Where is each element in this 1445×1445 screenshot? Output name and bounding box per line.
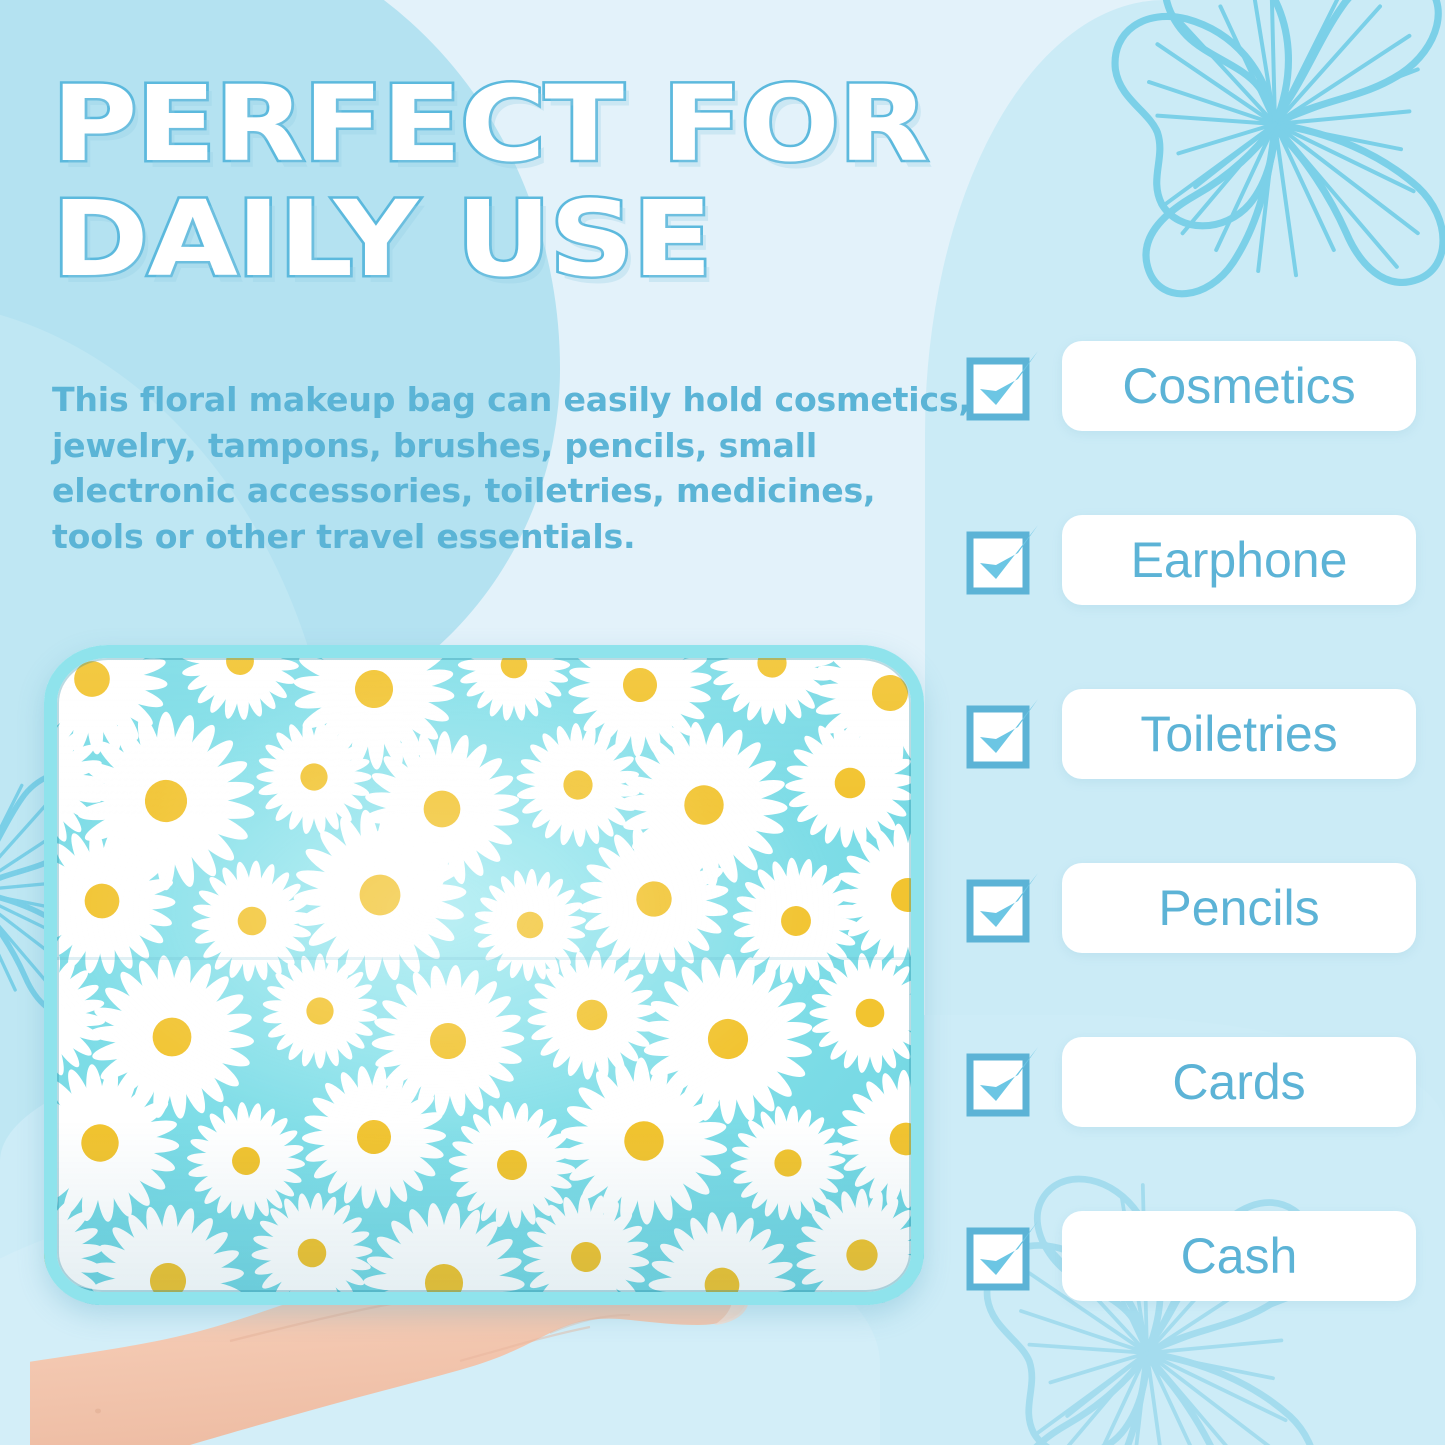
checklist-label: Cards (1172, 1057, 1305, 1107)
checked-checkbox-icon[interactable] (966, 697, 1040, 771)
checklist-item-cash[interactable]: Cash (966, 1208, 1416, 1304)
product-image-makeup-bag (44, 645, 924, 1305)
checklist-label: Pencils (1158, 883, 1319, 933)
checklist-pill[interactable]: Toiletries (1062, 689, 1416, 779)
checklist-pill[interactable]: Cards (1062, 1037, 1416, 1127)
checked-checkbox-icon[interactable] (966, 349, 1040, 423)
checklist-pill[interactable]: Earphone (1062, 515, 1416, 605)
checklist-item-earphone[interactable]: Earphone (966, 512, 1416, 608)
checked-checkbox-icon[interactable] (966, 1219, 1040, 1293)
checklist-item-toiletries[interactable]: Toiletries (966, 686, 1416, 782)
checklist-label: Toiletries (1140, 709, 1337, 759)
feature-checklist: Cosmetics Earphone Toiletr (966, 338, 1416, 1304)
checked-checkbox-icon[interactable] (966, 1045, 1040, 1119)
checklist-pill[interactable]: Pencils (1062, 863, 1416, 953)
product-infographic: PERFECT FOR DAILY USE This floral makeup… (0, 0, 1445, 1445)
checklist-item-cards[interactable]: Cards (966, 1034, 1416, 1130)
checklist-item-pencils[interactable]: Pencils (966, 860, 1416, 956)
checked-checkbox-icon[interactable] (966, 523, 1040, 597)
body-description: This floral makeup bag can easily hold c… (52, 378, 975, 560)
checklist-item-cosmetics[interactable]: Cosmetics (966, 338, 1416, 434)
checklist-label: Earphone (1131, 535, 1348, 585)
checklist-pill[interactable]: Cosmetics (1062, 341, 1416, 431)
headline-line-1: PERFECT FOR (52, 74, 1127, 175)
checklist-label: Cash (1181, 1231, 1298, 1281)
headline: PERFECT FOR DAILY USE (52, 74, 1012, 304)
checked-checkbox-icon[interactable] (966, 871, 1040, 945)
checklist-pill[interactable]: Cash (1062, 1211, 1416, 1301)
headline-line-2: DAILY USE (52, 189, 1127, 290)
bag-body (44, 645, 924, 1305)
checklist-label: Cosmetics (1122, 361, 1355, 411)
